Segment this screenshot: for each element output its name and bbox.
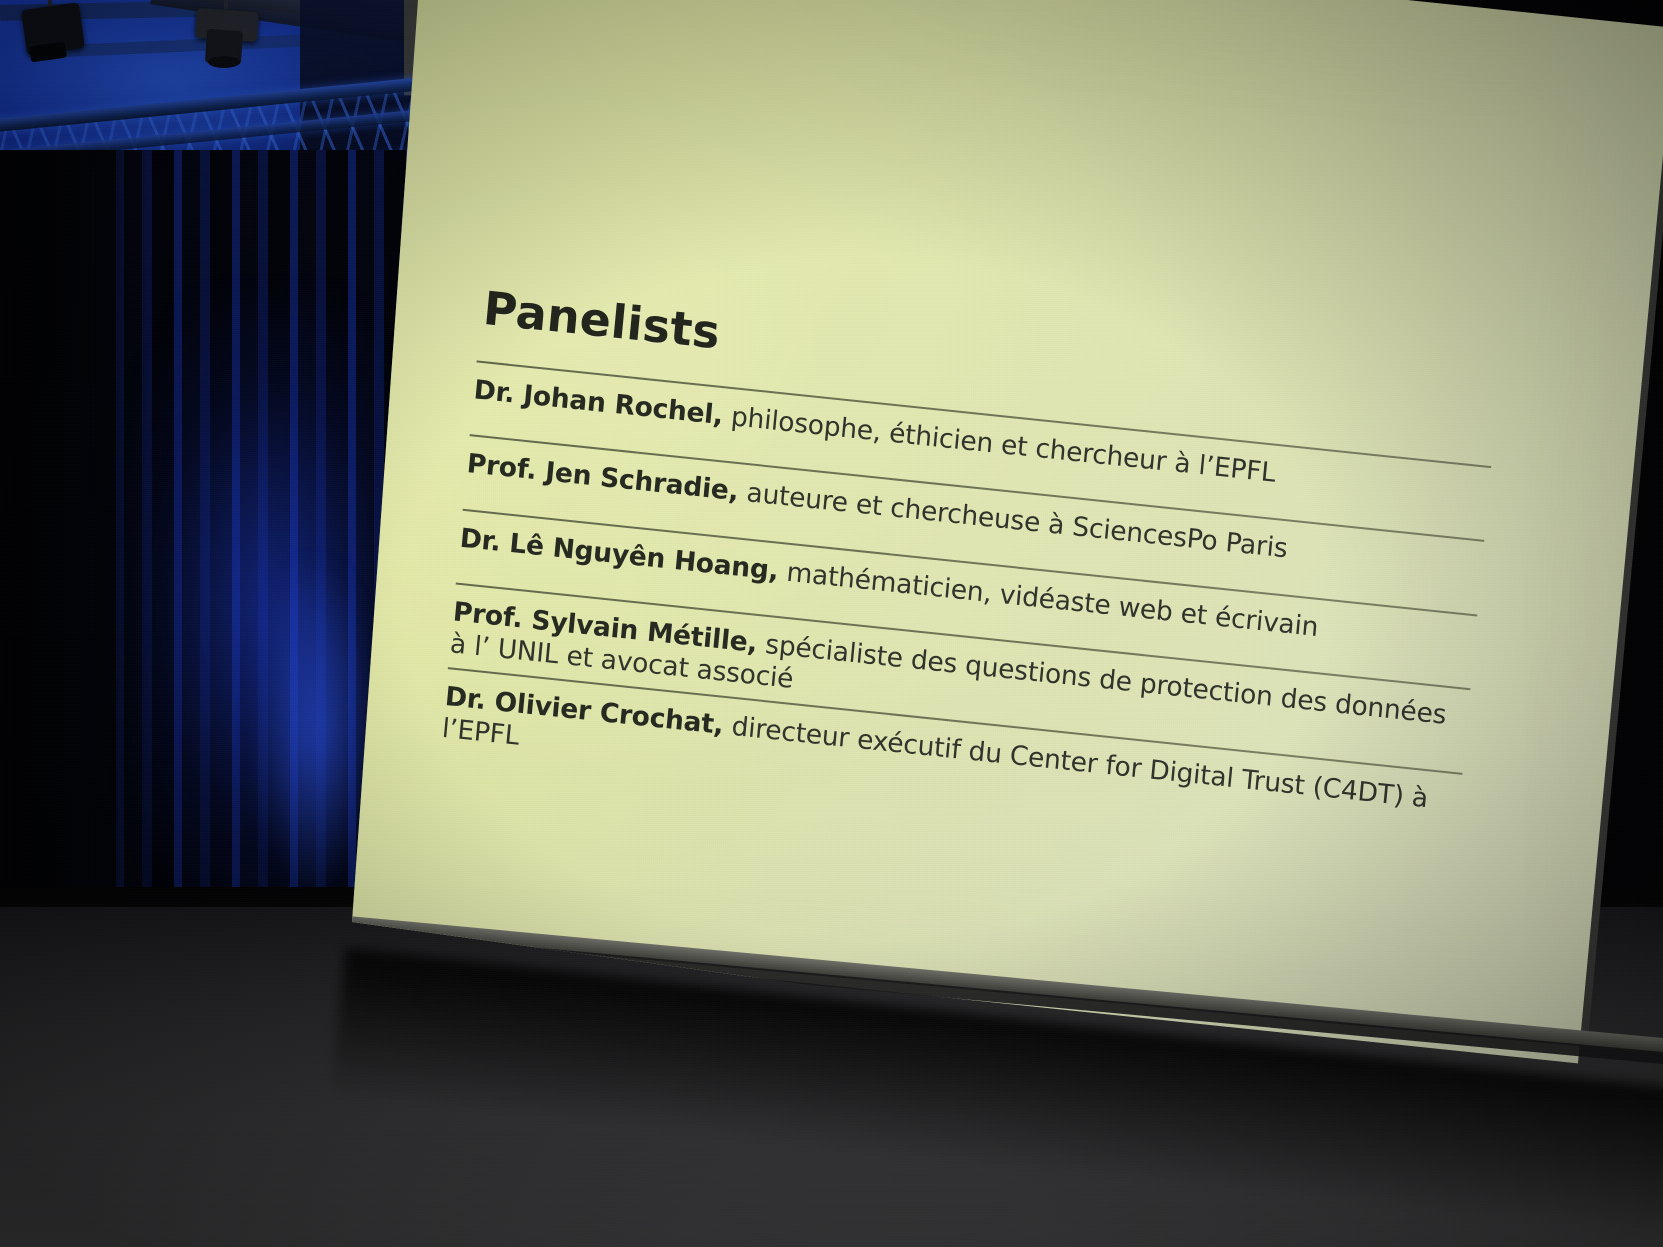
stage-light-lens (208, 56, 240, 68)
panelist-name-2: Prof. Jen Schradie, (466, 448, 740, 507)
curtain-blue-glow (255, 560, 375, 900)
panelist-name-3: Dr. Lê Nguyên Hoang, (459, 522, 780, 586)
curtain-shadow (0, 150, 150, 940)
presentation-slide: Panelists Dr. Johan Rochel, philosophe, … (255, 0, 1663, 1063)
photo-scene: Panelists Dr. Johan Rochel, philosophe, … (0, 0, 1663, 1247)
